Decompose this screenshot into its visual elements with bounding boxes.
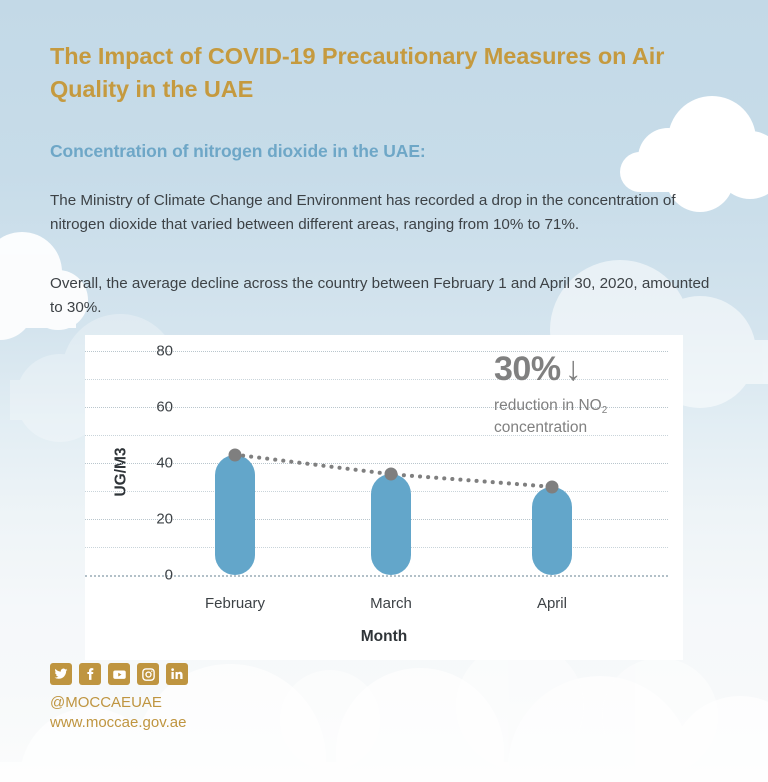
social-links[interactable] <box>50 663 188 685</box>
facebook-icon[interactable] <box>79 663 101 685</box>
x-axis-title: Month <box>0 628 768 646</box>
reduction-callout: 30% ↓ reduction in NO2 concentration <box>494 352 607 439</box>
x-tick-label-february: February <box>175 595 295 612</box>
body-paragraph-2: Overall, the average decline across the … <box>50 272 722 319</box>
y-tick-label-80: 80 <box>127 343 173 360</box>
twitter-icon[interactable] <box>50 663 72 685</box>
reduction-description: reduction in NO2 concentration <box>494 395 607 439</box>
page-subtitle: Concentration of nitrogen dioxide in the… <box>50 141 426 162</box>
linkedin-icon[interactable] <box>166 663 188 685</box>
reduction-description-line1: reduction in NO <box>494 397 602 414</box>
data-point-march <box>385 468 398 481</box>
page-title: The Impact of COVID-19 Precautionary Mea… <box>50 40 690 107</box>
youtube-icon[interactable] <box>108 663 130 685</box>
x-tick-label-april: April <box>492 595 612 612</box>
data-point-february <box>229 448 242 461</box>
no2-subscript: 2 <box>602 405 608 416</box>
reduction-description-line2: concentration <box>494 419 587 436</box>
social-handle[interactable]: @MOCCAEUAE <box>50 694 162 711</box>
reduction-percent-row: 30% ↓ <box>494 352 607 388</box>
x-tick-label-march: March <box>331 595 451 612</box>
body-paragraph-1: The Ministry of Climate Change and Envir… <box>50 189 722 236</box>
y-tick-label-0: 0 <box>127 567 173 584</box>
instagram-icon[interactable] <box>137 663 159 685</box>
y-tick-label-60: 60 <box>127 399 173 416</box>
data-point-april <box>545 480 558 493</box>
y-tick-label-20: 20 <box>127 511 173 528</box>
down-arrow-icon: ↓ <box>565 352 582 388</box>
reduction-percent-value: 30% <box>494 352 561 388</box>
website-link[interactable]: www.moccae.gov.ae <box>50 714 186 731</box>
y-tick-label-40: 40 <box>127 455 173 472</box>
